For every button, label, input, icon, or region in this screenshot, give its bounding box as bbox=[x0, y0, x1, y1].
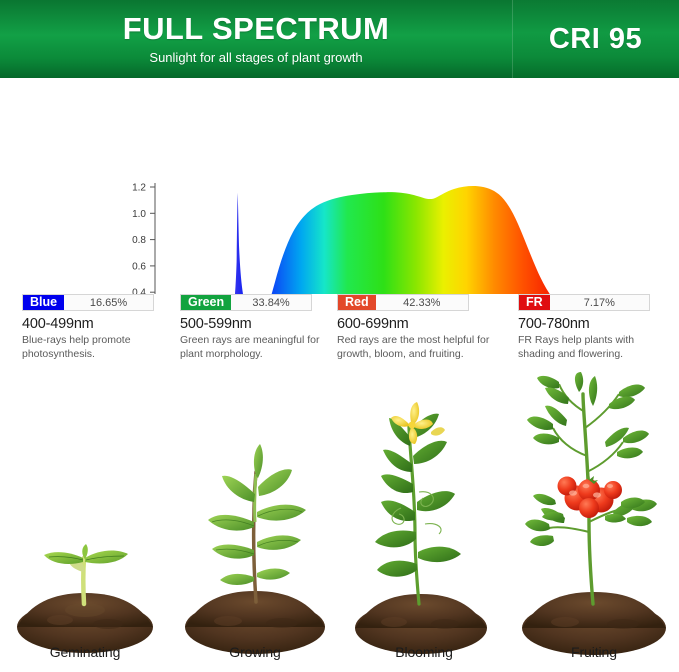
y-tick-label: 0.8 bbox=[132, 235, 146, 246]
growth-stage-geminating: Geminating bbox=[0, 372, 170, 664]
legend-band-name: FR bbox=[519, 295, 550, 310]
legend-bar: FR 7.17% bbox=[518, 294, 650, 311]
seedling-sprout-icon bbox=[0, 372, 170, 664]
growth-stage-blooming: Blooming bbox=[339, 372, 509, 664]
legend-band-range: 400-499nm bbox=[22, 316, 172, 332]
legend-band-range: 700-780nm bbox=[518, 316, 668, 332]
growth-stage-fruiting: Fruiting bbox=[509, 372, 679, 664]
legend-band-range: 600-699nm bbox=[337, 316, 515, 332]
stage-label: Growing bbox=[170, 644, 340, 660]
legend-band-description: FR Rays help plants with shading and flo… bbox=[518, 334, 668, 361]
legend-item-red: Red 42.33% 600-699nm Red rays are the mo… bbox=[337, 294, 515, 361]
spectral-power-curve bbox=[155, 186, 613, 294]
legend-bar: Red 42.33% bbox=[337, 294, 469, 311]
legend-band-description: Green rays are meaningful for plant morp… bbox=[180, 334, 330, 361]
y-axis-tick-labels: 1.2 1.0 0.8 0.6 0.4 0.2 0.0 bbox=[132, 183, 146, 295]
flowering-vine-plant-icon bbox=[339, 372, 509, 664]
legend-band-percent: 33.84% bbox=[231, 295, 311, 310]
legend-band-description: Blue-rays help promote photosynthesis. bbox=[22, 334, 172, 361]
header-title-block: FULL SPECTRUM Sunlight for all stages of… bbox=[0, 11, 512, 67]
spectrum-chart: 1.2 1.0 0.8 0.6 0.4 0.2 0.0 400 500 600 … bbox=[0, 82, 679, 294]
cri-badge: CRI 95 bbox=[512, 0, 679, 78]
spectrum-chart-svg: 1.2 1.0 0.8 0.6 0.4 0.2 0.0 400 500 600 … bbox=[0, 82, 679, 294]
legend-band-range: 500-599nm bbox=[180, 316, 330, 332]
legend-band-name: Red bbox=[338, 295, 376, 310]
legend-band-name: Blue bbox=[23, 295, 64, 310]
flower bbox=[391, 402, 433, 444]
legend-bar: Blue 16.65% bbox=[22, 294, 154, 311]
stage-label: Geminating bbox=[0, 644, 170, 660]
page-subtitle: Sunlight for all stages of plant growth bbox=[0, 49, 512, 67]
tomato-plant-with-fruit-icon bbox=[509, 372, 679, 664]
page-title: FULL SPECTRUM bbox=[0, 11, 512, 47]
page-header: FULL SPECTRUM Sunlight for all stages of… bbox=[0, 0, 679, 78]
stage-label: Blooming bbox=[339, 644, 509, 660]
legend-band-percent: 7.17% bbox=[550, 295, 649, 310]
y-tick-label: 1.0 bbox=[132, 209, 146, 220]
legend-bar: Green 33.84% bbox=[180, 294, 312, 311]
spectrum-legend: Blue 16.65% 400-499nm Blue-rays help pro… bbox=[0, 294, 679, 372]
stage-label: Fruiting bbox=[509, 644, 679, 660]
tomato-cluster bbox=[558, 466, 623, 518]
leafy-young-plant-icon bbox=[170, 372, 340, 664]
growth-stages: Geminating bbox=[0, 372, 679, 664]
legend-band-description: Red rays are the most helpful for growth… bbox=[337, 334, 509, 361]
growth-stage-growing: Growing bbox=[170, 372, 340, 664]
legend-item-fr: FR 7.17% 700-780nm FR Rays help plants w… bbox=[518, 294, 668, 361]
legend-item-green: Green 33.84% 500-599nm Green rays are me… bbox=[180, 294, 330, 361]
legend-band-name: Green bbox=[181, 295, 231, 310]
legend-band-percent: 16.65% bbox=[64, 295, 153, 310]
y-tick-label: 0.6 bbox=[132, 261, 146, 272]
legend-item-blue: Blue 16.65% 400-499nm Blue-rays help pro… bbox=[22, 294, 172, 361]
legend-band-percent: 42.33% bbox=[376, 295, 468, 310]
y-tick-label: 1.2 bbox=[132, 183, 146, 194]
